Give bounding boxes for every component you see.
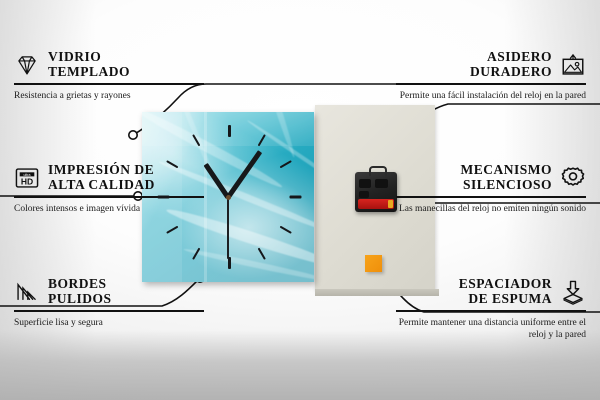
feature-title-line2: DURADERO	[470, 65, 552, 80]
feature-title-line2: PULIDOS	[48, 292, 112, 307]
feature-description: Resistencia a grietas y rayones	[14, 90, 204, 103]
feature-asidero-duradero: ASIDERO DURADERO Permite una fácil insta…	[396, 50, 586, 102]
feature-titles: VIDRIO TEMPLADO	[48, 50, 130, 79]
product-photo	[130, 100, 345, 300]
feature-head: MECANISMO SILENCIOSO	[396, 163, 586, 192]
feature-description: Permite una fácil instalación del reloj …	[396, 90, 586, 103]
gear-icon	[560, 165, 586, 191]
feature-titles: ASIDERO DURADERO	[470, 50, 552, 79]
feature-title-line1: ESPACIADOR	[459, 277, 552, 292]
ultra-hd-icon: ultra HD	[14, 165, 40, 191]
movement-battery	[358, 199, 394, 209]
feature-divider	[14, 83, 204, 85]
feature-title-line2: TEMPLADO	[48, 65, 130, 80]
feature-title-line1: ASIDERO	[487, 50, 552, 65]
clock-second-hand	[227, 197, 229, 259]
clock-movement-box	[355, 172, 397, 212]
feature-description: Permite mantener una distancia uniforme …	[396, 317, 586, 343]
feature-divider	[396, 196, 586, 198]
movement-hanger-lug	[369, 166, 387, 176]
feature-title-line2: SILENCIOSO	[463, 178, 552, 193]
feature-divider	[396, 83, 586, 85]
polished-edges-icon	[14, 279, 40, 305]
feature-divider	[396, 310, 586, 312]
wall-clock-face	[142, 112, 314, 282]
feature-titles: ESPACIADOR DE ESPUMA	[459, 277, 552, 306]
feature-espaciador-de-espuma: ESPACIADOR DE ESPUMA Permite mantener un…	[396, 277, 586, 342]
feature-title-line1: MECANISMO	[461, 163, 553, 178]
feature-title-line1: BORDES	[48, 277, 107, 292]
foam-spacer-icon	[560, 279, 586, 305]
feature-description: Superficie lisa y segura	[14, 317, 204, 330]
feature-bordes-pulidos: BORDES PULIDOS Superficie lisa y segura	[14, 277, 204, 329]
feature-titles: MECANISMO SILENCIOSO	[461, 163, 553, 192]
feature-head: ESPACIADOR DE ESPUMA	[396, 277, 586, 306]
feature-titles: BORDES PULIDOS	[48, 277, 112, 306]
wall-hanger-icon	[560, 52, 586, 78]
feature-title-line2: DE ESPUMA	[468, 292, 552, 307]
infographic-canvas: VIDRIO TEMPLADO Resistencia a grietas y …	[0, 0, 600, 400]
feature-head: ASIDERO DURADERO	[396, 50, 586, 79]
feature-titles: IMPRESIÓN DE ALTA CALIDAD	[48, 163, 155, 192]
feature-divider	[14, 310, 204, 312]
feature-head: VIDRIO TEMPLADO	[14, 50, 204, 79]
feature-title-line1: IMPRESIÓN DE	[48, 163, 154, 178]
feature-title-line1: VIDRIO	[48, 50, 101, 65]
feature-vidrio-templado: VIDRIO TEMPLADO Resistencia a grietas y …	[14, 50, 204, 102]
svg-text:HD: HD	[21, 176, 33, 186]
feature-mecanismo-silencioso: MECANISMO SILENCIOSO Las manecillas del …	[396, 163, 586, 215]
feature-description: Las manecillas del reloj no emiten ningú…	[396, 203, 586, 216]
feature-title-line2: ALTA CALIDAD	[48, 178, 155, 193]
diamond-icon	[14, 52, 40, 78]
clock-center-cap	[226, 195, 231, 200]
foam-spacer-square	[365, 255, 382, 272]
